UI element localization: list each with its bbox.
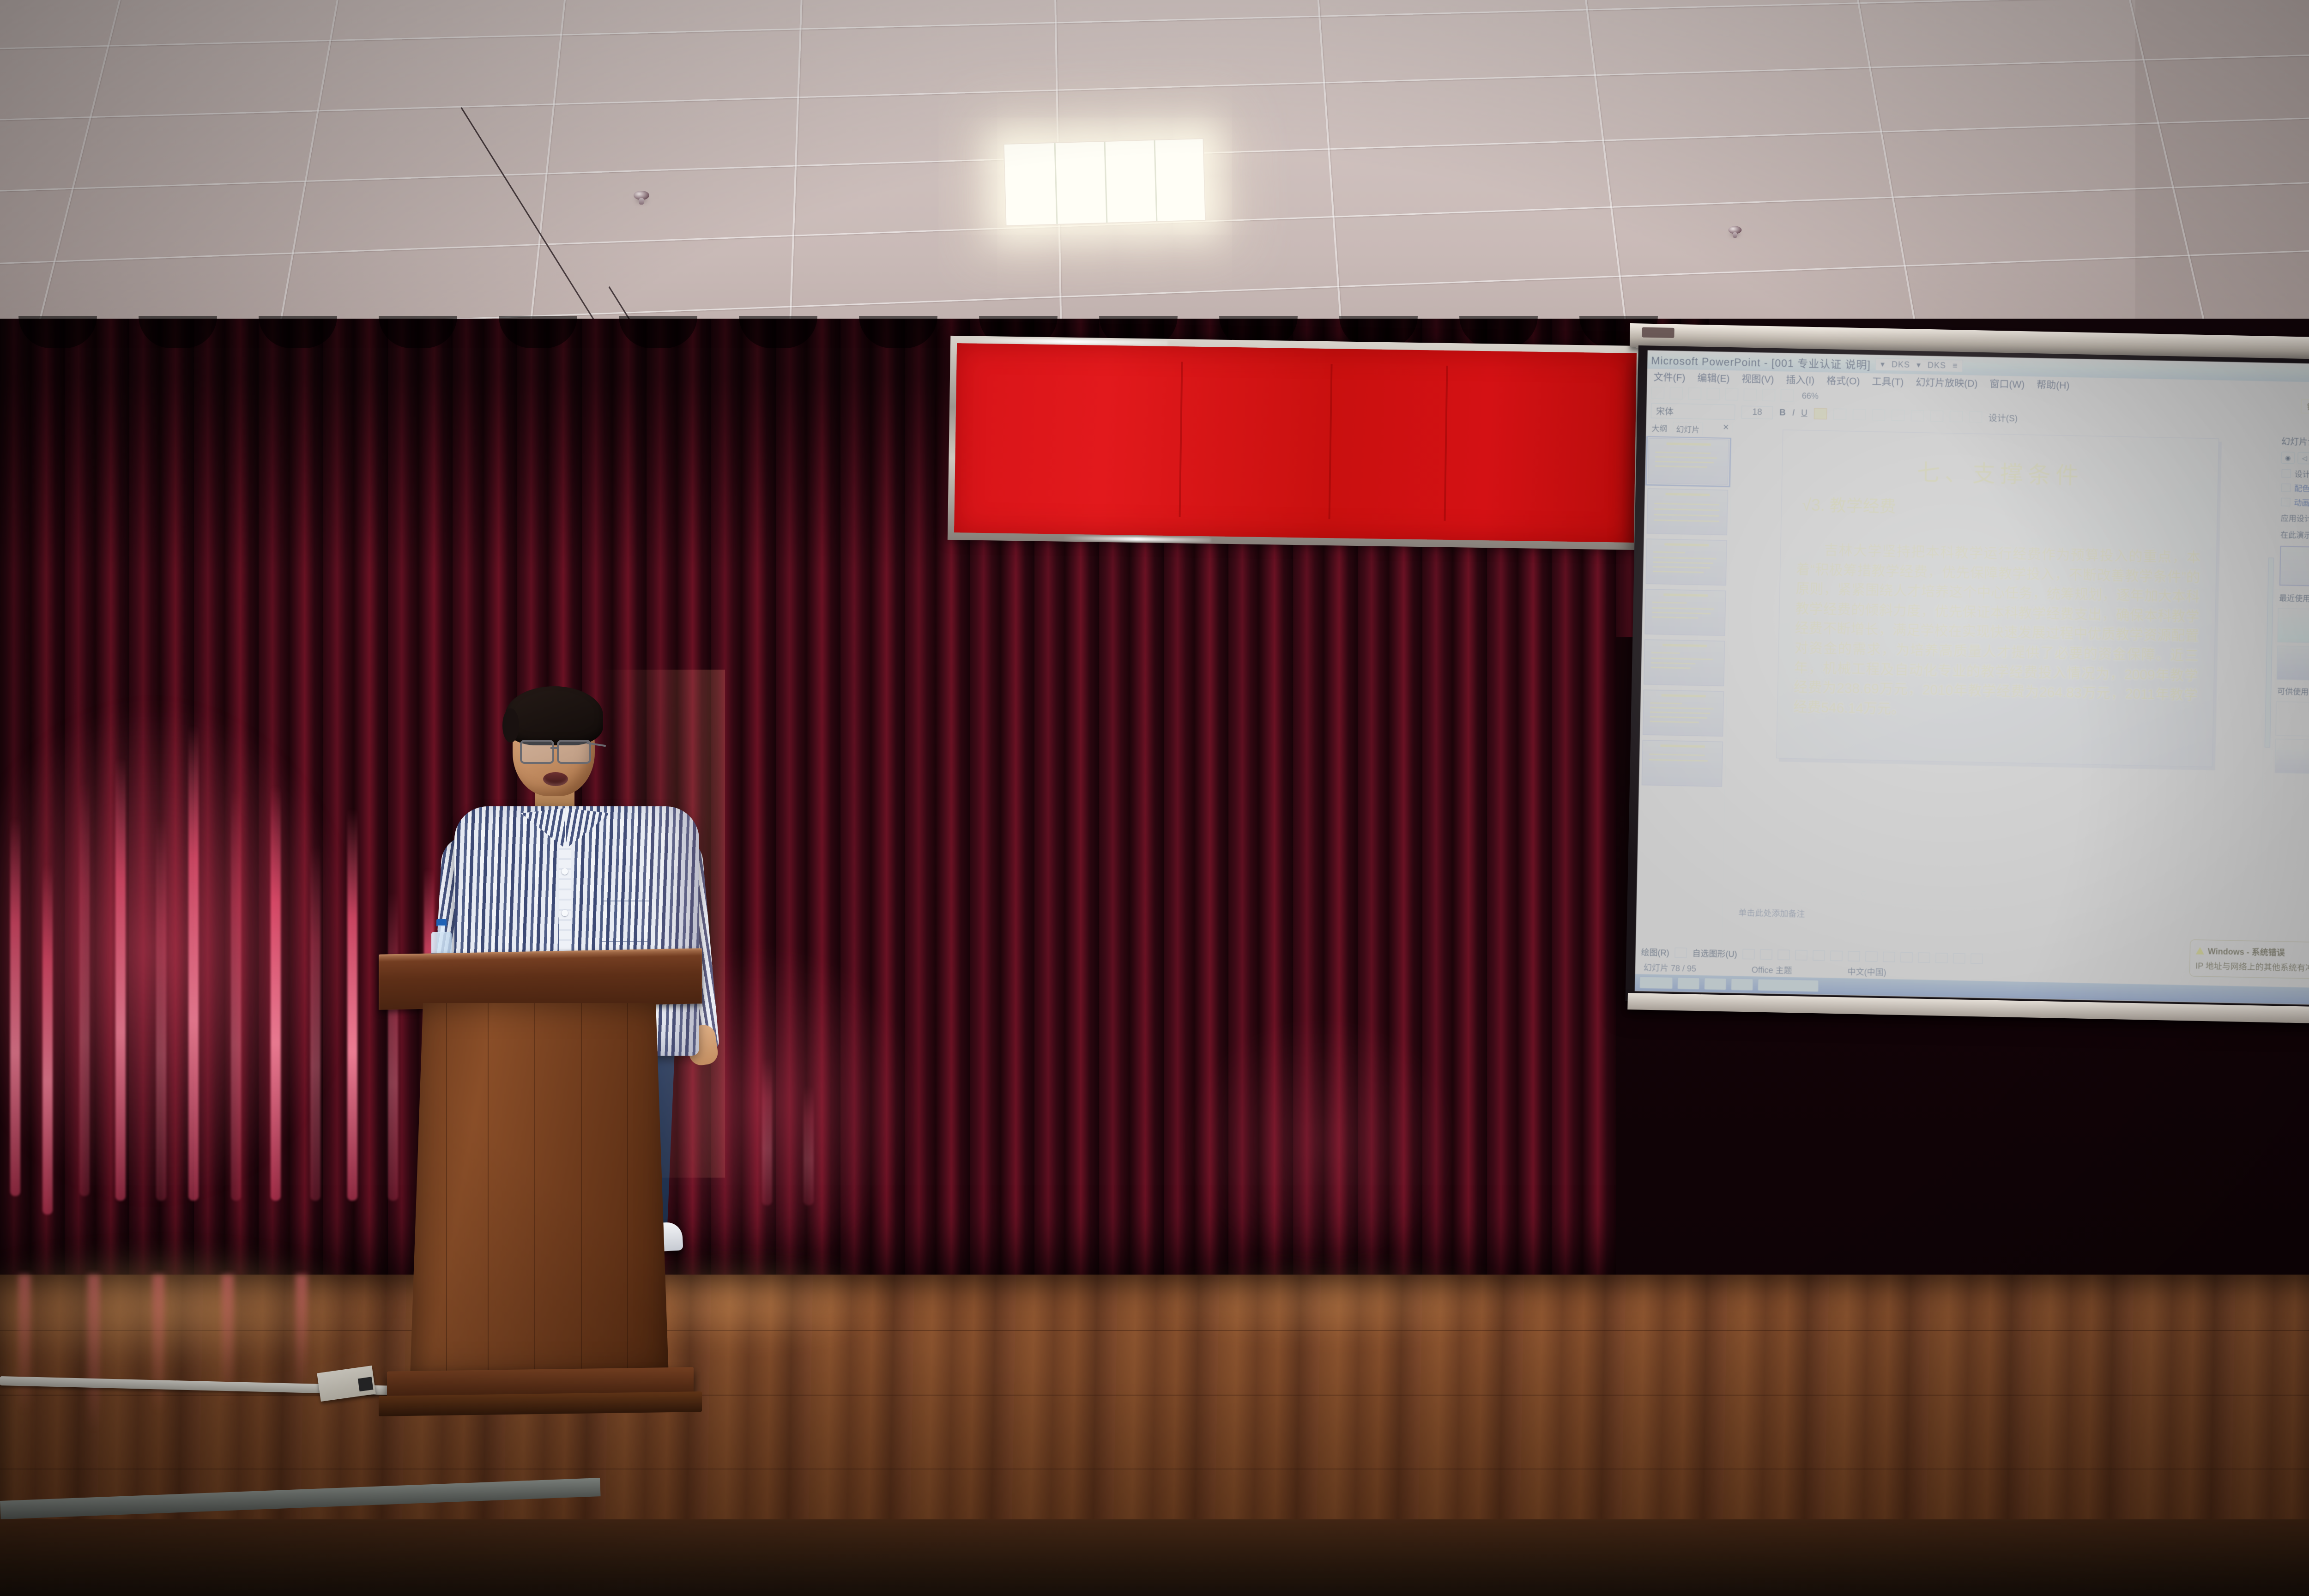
design-button[interactable]: 设计(S) bbox=[1989, 411, 2018, 424]
balloon-title-row: Windows - 系统错误 ✕ bbox=[2196, 944, 2309, 960]
align-center-icon[interactable] bbox=[1833, 408, 1846, 420]
slide-thumbnail[interactable] bbox=[1644, 639, 1725, 686]
ceiling-grid-line bbox=[523, 0, 568, 337]
floor-reflection bbox=[18, 1275, 30, 1413]
curtain-light-streak bbox=[347, 808, 357, 1201]
speaker-mouth bbox=[543, 772, 568, 786]
window-title: Microsoft PowerPoint - [001 专业认证 说明] bbox=[1651, 352, 1871, 372]
menu-item-edit[interactable]: 编辑(E) bbox=[1697, 371, 1730, 385]
curtain-light-streak bbox=[79, 780, 90, 1196]
ceiling-grid-line bbox=[787, 0, 803, 337]
curtain-light-glow bbox=[0, 697, 360, 1205]
rectangle-icon[interactable] bbox=[1777, 949, 1789, 960]
menu-item-format[interactable]: 格式(O) bbox=[1826, 373, 1860, 387]
link-label: 动画方案 bbox=[2294, 496, 2309, 508]
decrease-indent-icon[interactable] bbox=[1930, 411, 1943, 422]
front-floor-area bbox=[0, 1519, 2309, 1596]
menu-item-slideshow[interactable]: 幻灯片放映(D) bbox=[1916, 375, 1978, 390]
increase-font-icon[interactable] bbox=[1911, 410, 1924, 422]
editor-body: 大纲 幻灯片 ✕ bbox=[1636, 419, 2309, 958]
nav-menu-icon[interactable]: ≡ bbox=[1952, 361, 1958, 370]
ask-a-question-input[interactable]: 键入需要帮助的问题 bbox=[2301, 399, 2309, 415]
theme-name: Office 主题 bbox=[1752, 963, 1792, 976]
curtain-light-streak bbox=[188, 725, 199, 1201]
bullet-list-icon[interactable] bbox=[1872, 409, 1885, 421]
apply-design-template-label: 应用设计模板 bbox=[2276, 509, 2309, 528]
ceiling-wire bbox=[460, 107, 613, 337]
task-pane-header: 幻灯片设计 ▾ ✕ bbox=[2278, 432, 2309, 452]
table-icon[interactable] bbox=[1762, 389, 1776, 401]
oval-icon[interactable] bbox=[1795, 950, 1807, 961]
group-label: 最近使用过的 bbox=[2279, 592, 2309, 604]
curtain-light-streak bbox=[762, 1058, 772, 1205]
tab-outline[interactable]: 大纲 bbox=[1649, 421, 1670, 435]
slide-thumbnail[interactable] bbox=[1642, 740, 1723, 786]
template-thumbnail[interactable] bbox=[2279, 546, 2309, 586]
floor-reflection bbox=[152, 1275, 164, 1413]
taskbar-item[interactable] bbox=[1704, 978, 1727, 990]
thumbnails-tabs[interactable]: 大纲 幻灯片 ✕ bbox=[1646, 419, 1732, 438]
ceiling bbox=[0, 0, 2309, 337]
smoke-detector-icon bbox=[1729, 226, 1742, 234]
font-size-select[interactable]: 18 bbox=[1741, 406, 1773, 419]
italic-button[interactable]: I bbox=[1792, 408, 1795, 418]
font-color-icon[interactable] bbox=[1935, 953, 1947, 963]
shirt-pocket bbox=[601, 901, 651, 942]
available-templates-grid[interactable] bbox=[2271, 699, 2309, 778]
speaker-hair bbox=[505, 686, 603, 745]
group-in-use-header[interactable]: 在此演示文稿中使用 ⌃ bbox=[2276, 526, 2309, 544]
curtain-light-streak bbox=[271, 785, 281, 1201]
slide-subtitle: √3. 教学经费 bbox=[1802, 491, 2202, 523]
windows-error-balloon[interactable]: Windows - 系统错误 ✕ IP 地址与网络上的其他系统有冲突。 bbox=[2189, 939, 2309, 980]
podium-body bbox=[410, 1003, 669, 1377]
slide-title: 七、支撑条件 bbox=[1798, 452, 2202, 493]
balloon-title: Windows - 系统错误 bbox=[2208, 945, 2285, 958]
curtain-light-streak bbox=[804, 1085, 814, 1205]
curtain-light-glow bbox=[1178, 1011, 1464, 1270]
slide-thumbnail[interactable] bbox=[1643, 689, 1724, 736]
task-pane-title: 幻灯片设计 bbox=[2281, 435, 2309, 448]
podium-top bbox=[379, 948, 702, 1010]
ceiling-grid-line bbox=[24, 0, 126, 337]
ceiling-grid-line bbox=[0, 0, 2309, 51]
clipart-icon[interactable] bbox=[1865, 951, 1877, 962]
open-icon[interactable] bbox=[1670, 387, 1683, 399]
banner-frame bbox=[948, 336, 1643, 550]
group-label: 可供使用 bbox=[2277, 685, 2309, 697]
wordart-icon[interactable] bbox=[1830, 951, 1842, 961]
slide-counter: 幻灯片 78 / 95 bbox=[1644, 961, 1697, 974]
taskbar-item[interactable] bbox=[1758, 979, 1819, 992]
template-icon bbox=[2282, 469, 2291, 478]
lecture-hall-photo: Microsoft PowerPoint - [001 专业认证 说明] ▾ D… bbox=[0, 0, 2309, 1596]
zoom-level[interactable]: 66% bbox=[1802, 391, 1830, 401]
menu-item-view[interactable]: 视图(V) bbox=[1741, 372, 1774, 386]
slide-thumbnail[interactable] bbox=[1646, 538, 1727, 585]
curtain-light-streak bbox=[42, 864, 53, 1215]
back-icon[interactable]: ◉ bbox=[2281, 452, 2295, 464]
ceiling-grid-line bbox=[0, 49, 2309, 123]
bold-button[interactable]: B bbox=[1779, 408, 1786, 418]
autoshapes-menu[interactable]: 自选图形(U) bbox=[1692, 947, 1737, 960]
language-indicator: 中文(中国) bbox=[1847, 965, 1886, 978]
red-banner-cloth bbox=[954, 343, 1637, 543]
link-label: 设计模板 bbox=[2294, 468, 2309, 480]
ceiling-grid-line bbox=[269, 0, 343, 337]
curtain-light-streak bbox=[310, 845, 320, 1201]
slide-thumbnail[interactable] bbox=[1644, 589, 1726, 635]
floor-reflection bbox=[296, 1275, 308, 1390]
nav-next-icon[interactable]: ▾ bbox=[1916, 360, 1921, 370]
group-label: 在此演示文稿中使用 bbox=[2280, 528, 2309, 541]
template-thumbnail[interactable] bbox=[2275, 739, 2309, 774]
align-right-icon[interactable] bbox=[1853, 409, 1866, 420]
slide-thumbnail[interactable] bbox=[1647, 488, 1728, 535]
slide-body-text: 吉林大学坚持把本科教学运行经费作为预算投入的重点，本着“积极筹措教学经费，优先保… bbox=[1793, 540, 2201, 725]
thumbnails-list[interactable] bbox=[1636, 436, 1732, 945]
undo-icon[interactable] bbox=[1725, 388, 1739, 401]
template-thumbnail[interactable] bbox=[2277, 646, 2309, 681]
line-icon[interactable] bbox=[1742, 949, 1754, 960]
eyeglasses-bridge bbox=[550, 747, 559, 749]
warning-icon bbox=[2196, 947, 2204, 954]
forward-icon[interactable]: ◁ bbox=[2297, 452, 2309, 465]
font-name-select[interactable]: 宋体 bbox=[1651, 403, 1735, 420]
print-icon[interactable] bbox=[1707, 388, 1720, 400]
current-slide[interactable]: 七、支撑条件 √3. 教学经费 吉林大学坚持把本科教学运行经费作为预算投入的重点… bbox=[1776, 429, 2219, 767]
recent-templates-grid[interactable] bbox=[2273, 605, 2309, 685]
nav-prev-icon[interactable]: ▾ bbox=[1880, 359, 1885, 369]
draw-menu[interactable]: 绘图(R) bbox=[1641, 946, 1669, 958]
chart-icon[interactable] bbox=[1781, 389, 1794, 402]
picture-icon[interactable] bbox=[1883, 952, 1895, 962]
save-icon[interactable] bbox=[1688, 387, 1702, 400]
curtain-light-streak bbox=[10, 817, 20, 1196]
template-thumbnail[interactable] bbox=[2277, 608, 2309, 643]
template-in-use[interactable] bbox=[2275, 542, 2309, 592]
curtain-light-streak bbox=[231, 790, 241, 1201]
font-color-icon[interactable] bbox=[1969, 411, 1982, 423]
nav-counter-a: DKS bbox=[1892, 360, 1910, 370]
template-thumbnail[interactable] bbox=[2275, 701, 2309, 737]
powerpoint-window[interactable]: Microsoft PowerPoint - [001 专业认证 说明] ▾ D… bbox=[1635, 350, 2309, 1006]
floor-reflection bbox=[88, 1275, 100, 1432]
slide-thumbnail[interactable] bbox=[1648, 438, 1729, 484]
align-left-icon[interactable] bbox=[1814, 408, 1827, 420]
nav-counter-b: DKS bbox=[1928, 360, 1946, 370]
taskbar-item[interactable] bbox=[1731, 978, 1753, 991]
group-available-header[interactable]: 可供使用 bbox=[2273, 683, 2309, 701]
link-label: 配色方案 bbox=[2294, 482, 2309, 494]
slide-thumbnails-panel[interactable]: 大纲 幻灯片 ✕ bbox=[1636, 419, 1733, 945]
star-icon bbox=[2281, 497, 2290, 506]
projection-screen: Microsoft PowerPoint - [001 专业认证 说明] ▾ D… bbox=[1626, 345, 2309, 1016]
line-color-icon[interactable] bbox=[1918, 952, 1930, 963]
slide-nav-chip[interactable]: ▾ DKS ▾ DKS ≡ bbox=[1875, 358, 1963, 372]
ceiling-light-panel bbox=[1003, 138, 1206, 226]
ceiling-grid-line bbox=[1582, 0, 1634, 337]
close-icon[interactable]: ✕ bbox=[1723, 423, 1729, 436]
numbered-list-icon[interactable] bbox=[1892, 410, 1904, 421]
lectern-podium bbox=[379, 951, 702, 1436]
slide-editing-area[interactable]: 七、支撑条件 √3. 教学经费 吉林大学坚持把本科教学运行经费作为预算投入的重点… bbox=[1722, 421, 2270, 956]
new-icon[interactable] bbox=[1651, 387, 1665, 399]
curtain-light-streak bbox=[115, 757, 126, 1201]
3d-icon[interactable] bbox=[1971, 954, 1983, 964]
ceiling-right-section bbox=[2135, 0, 2309, 337]
increase-indent-icon[interactable] bbox=[1950, 411, 1963, 423]
menu-item-help[interactable]: 帮助(H) bbox=[2037, 377, 2070, 392]
mouse-cursor-icon bbox=[1861, 889, 1868, 897]
start-button[interactable] bbox=[1639, 976, 1673, 989]
redo-icon[interactable] bbox=[1744, 389, 1757, 401]
eyeglasses-left-lens bbox=[520, 740, 554, 764]
diagram-icon[interactable] bbox=[1848, 951, 1860, 961]
smoke-detector-icon bbox=[634, 191, 649, 200]
menu-item-window[interactable]: 窗口(W) bbox=[1989, 376, 2025, 391]
tab-slides[interactable]: 幻灯片 bbox=[1673, 422, 1703, 435]
eyeglasses-right-lens bbox=[557, 740, 591, 764]
taskbar-item[interactable] bbox=[1677, 977, 1700, 990]
ceiling-grid-line bbox=[1853, 0, 1927, 337]
select-arrow-icon[interactable] bbox=[1674, 948, 1686, 958]
group-recent-header[interactable]: 最近使用过的 bbox=[2274, 589, 2309, 608]
curtain-light-streak bbox=[156, 817, 166, 1201]
menu-item-insert[interactable]: 插入(I) bbox=[1786, 372, 1814, 387]
textbox-icon[interactable] bbox=[1813, 950, 1825, 961]
arrow-icon[interactable] bbox=[1760, 949, 1772, 960]
balloon-message: IP 地址与网络上的其他系统有冲突。 bbox=[2195, 959, 2309, 974]
banner-frame-highlight bbox=[1063, 536, 1211, 543]
menu-item-file[interactable]: 文件(F) bbox=[1653, 370, 1685, 384]
menu-item-tools[interactable]: 工具(T) bbox=[1872, 374, 1904, 388]
shadow-icon[interactable] bbox=[1953, 953, 1965, 964]
shirt-button bbox=[562, 910, 568, 916]
fill-color-icon[interactable] bbox=[1900, 952, 1912, 963]
podium-plinth bbox=[379, 1391, 702, 1416]
task-pane-nav[interactable]: ◉ ◁ ⌂ bbox=[2277, 449, 2309, 468]
palette-icon bbox=[2281, 484, 2291, 492]
shirt-button bbox=[562, 868, 568, 875]
underline-button[interactable]: U bbox=[1801, 408, 1807, 418]
